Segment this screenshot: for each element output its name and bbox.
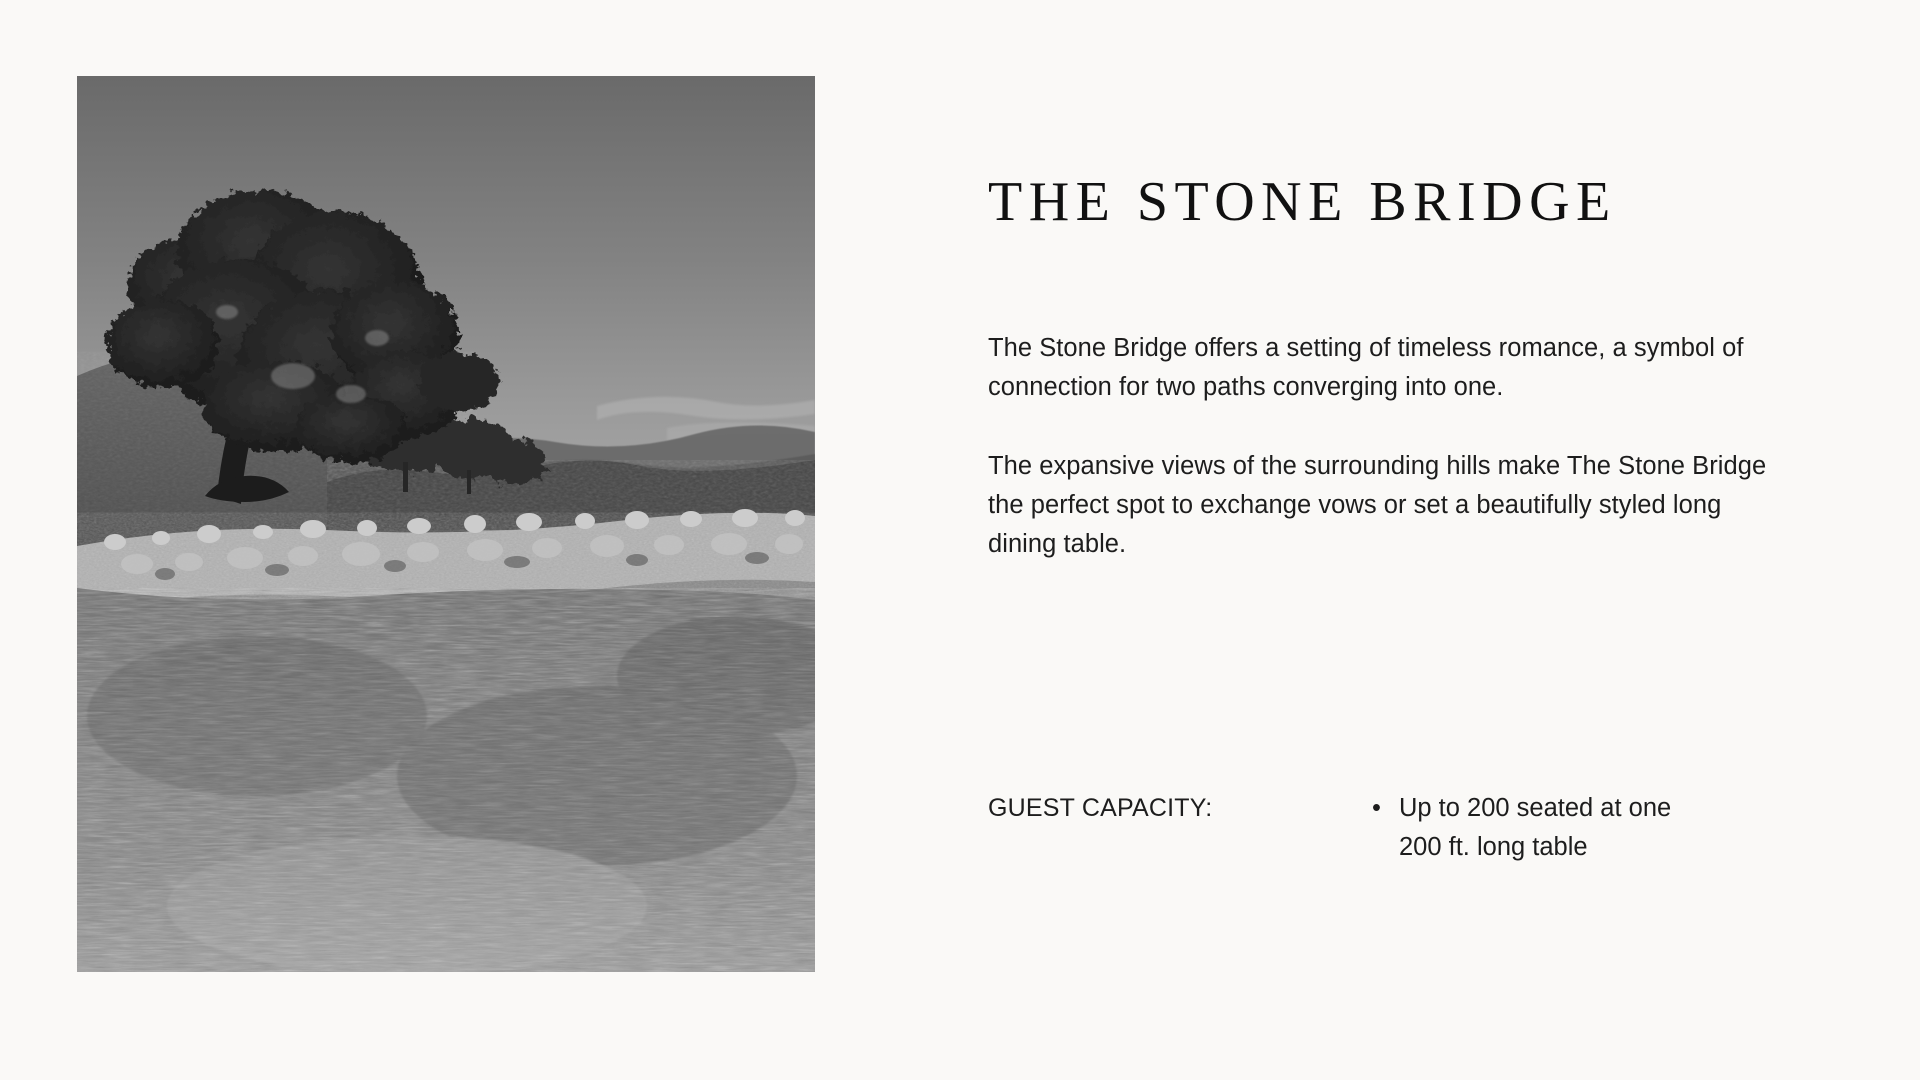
bullet-icon: •	[1372, 789, 1381, 828]
venue-description-paragraph-2: The expansive views of the surrounding h…	[988, 447, 1778, 564]
venue-details: THE STONE BRIDGE The Stone Bridge offers…	[988, 0, 1868, 1080]
page-title: THE STONE BRIDGE	[988, 170, 1617, 234]
guest-capacity-list: • Up to 200 seated at one 200 ft. long t…	[1370, 789, 1868, 867]
guest-capacity-label: GUEST CAPACITY:	[988, 789, 1370, 827]
guest-capacity-section: GUEST CAPACITY: • Up to 200 seated at on…	[988, 789, 1868, 867]
list-item: • Up to 200 seated at one 200 ft. long t…	[1370, 789, 1699, 867]
guest-capacity-item-text: Up to 200 seated at one 200 ft. long tab…	[1399, 794, 1671, 861]
venue-slide: THE STONE BRIDGE The Stone Bridge offers…	[0, 0, 1920, 1080]
venue-photo	[77, 76, 815, 972]
venue-photo-graphic	[77, 76, 815, 972]
venue-description-paragraph-1: The Stone Bridge offers a setting of tim…	[988, 329, 1778, 407]
